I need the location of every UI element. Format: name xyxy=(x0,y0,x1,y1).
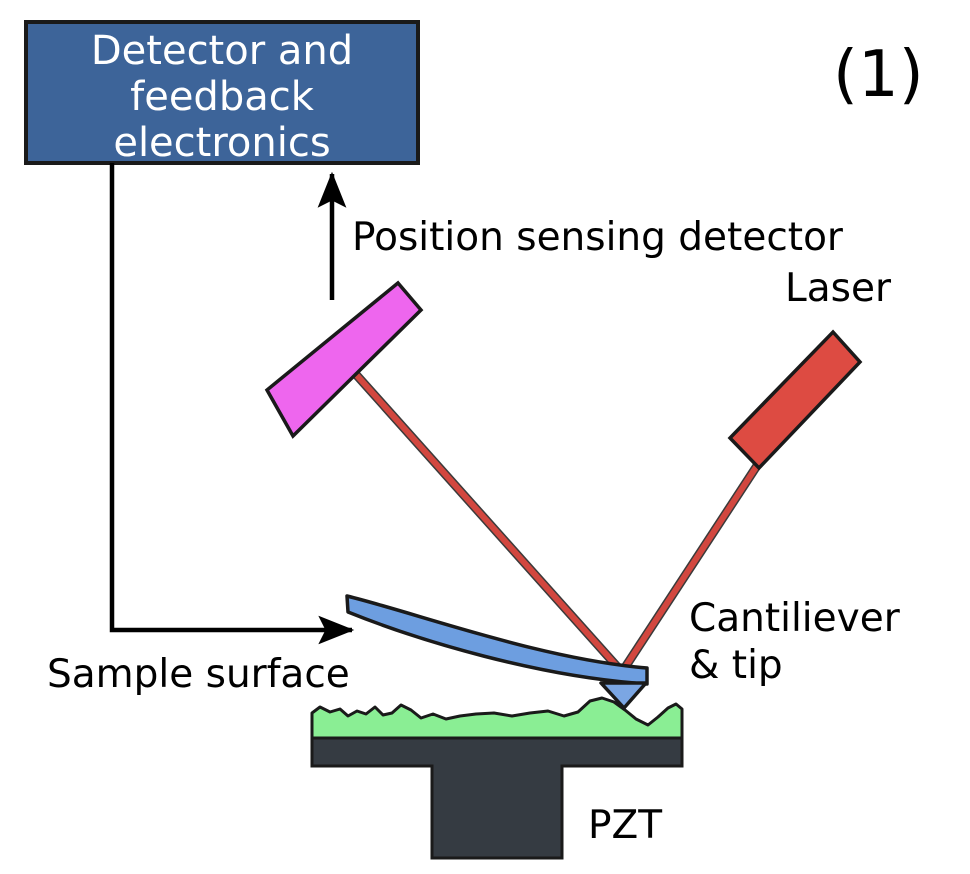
label-pzt: PZT xyxy=(588,803,662,848)
label-laser: Laser xyxy=(785,266,892,311)
label-figure-index: (1) xyxy=(833,38,924,112)
label-position-sensing-detector: Position sensing detector xyxy=(352,215,844,260)
detector-box-line-2: feedback xyxy=(130,74,315,120)
afm-schematic-svg: Detector and feedback electronics xyxy=(0,0,970,874)
detector-box-line-3: electronics xyxy=(113,120,330,166)
label-cantilever-line-1: Cantiliever xyxy=(689,596,901,641)
detector-feedback-box[interactable]: Detector and feedback electronics xyxy=(26,22,418,166)
detector-box-line-1: Detector and xyxy=(91,28,353,74)
label-cantilever-line-2: & tip xyxy=(689,643,783,688)
label-sample-surface: Sample surface xyxy=(47,652,350,697)
afm-diagram-root: Detector and feedback electronics xyxy=(0,0,970,874)
